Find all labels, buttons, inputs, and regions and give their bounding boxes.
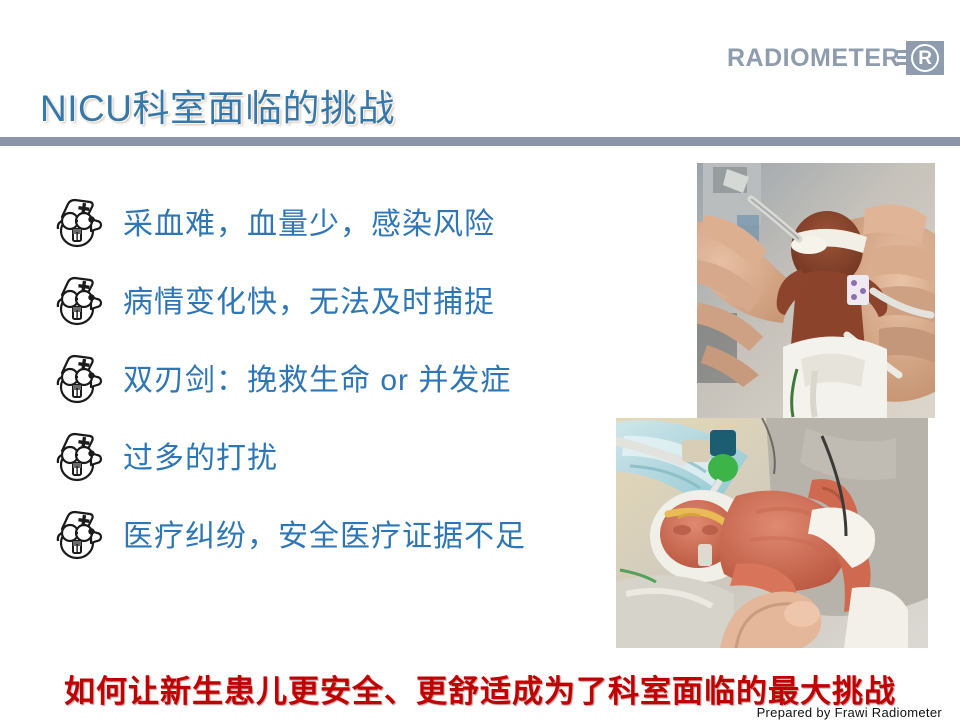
list-item-label: 病情变化快，无法及时捕捉 xyxy=(123,277,495,321)
page-title: NICU科室面临的挑战 xyxy=(40,78,395,132)
title-divider xyxy=(0,137,960,146)
list-item-label: 采血难，血量少，感染风险 xyxy=(123,199,495,243)
registered-mark-icon: R xyxy=(906,41,944,75)
doctor-nurse-icon xyxy=(48,191,104,251)
list-item: 病情变化快，无法及时捕捉 xyxy=(48,260,648,338)
list-item-label: 过多的打扰 xyxy=(123,433,278,477)
preemie-in-hands-photo xyxy=(697,163,935,418)
list-item-label: 双刃剑：挽救生命 or 并发症 xyxy=(123,355,511,399)
list-item-label: 医疗纠纷，安全医疗证据不足 xyxy=(123,511,526,555)
list-item: 采血难，血量少，感染风险 xyxy=(48,182,648,260)
doctor-nurse-icon xyxy=(48,269,104,329)
list-item: 双刃剑：挽救生命 or 并发症 xyxy=(48,338,648,416)
doctor-nurse-icon xyxy=(48,503,104,563)
logo-mark-letter: R xyxy=(918,49,932,68)
preemie-in-incubator-photo xyxy=(616,418,928,648)
logo-bars-icon xyxy=(897,50,906,66)
challenge-list: 采血难，血量少，感染风险 xyxy=(48,182,648,572)
doctor-nurse-icon xyxy=(48,347,104,407)
slide-canvas: RADIOMETER R NICU科室面临的挑战 xyxy=(0,0,960,720)
list-item: 过多的打扰 xyxy=(48,416,648,494)
list-item: 医疗纠纷，安全医疗证据不足 xyxy=(48,494,648,572)
brand-wordmark: RADIOMETER xyxy=(727,46,900,71)
radiometer-logo: RADIOMETER R xyxy=(727,40,944,76)
doctor-nurse-icon xyxy=(48,425,104,485)
footer-credit: Prepared by Frawi Radiometer xyxy=(0,705,960,720)
logo-ring-icon: R xyxy=(911,44,939,72)
